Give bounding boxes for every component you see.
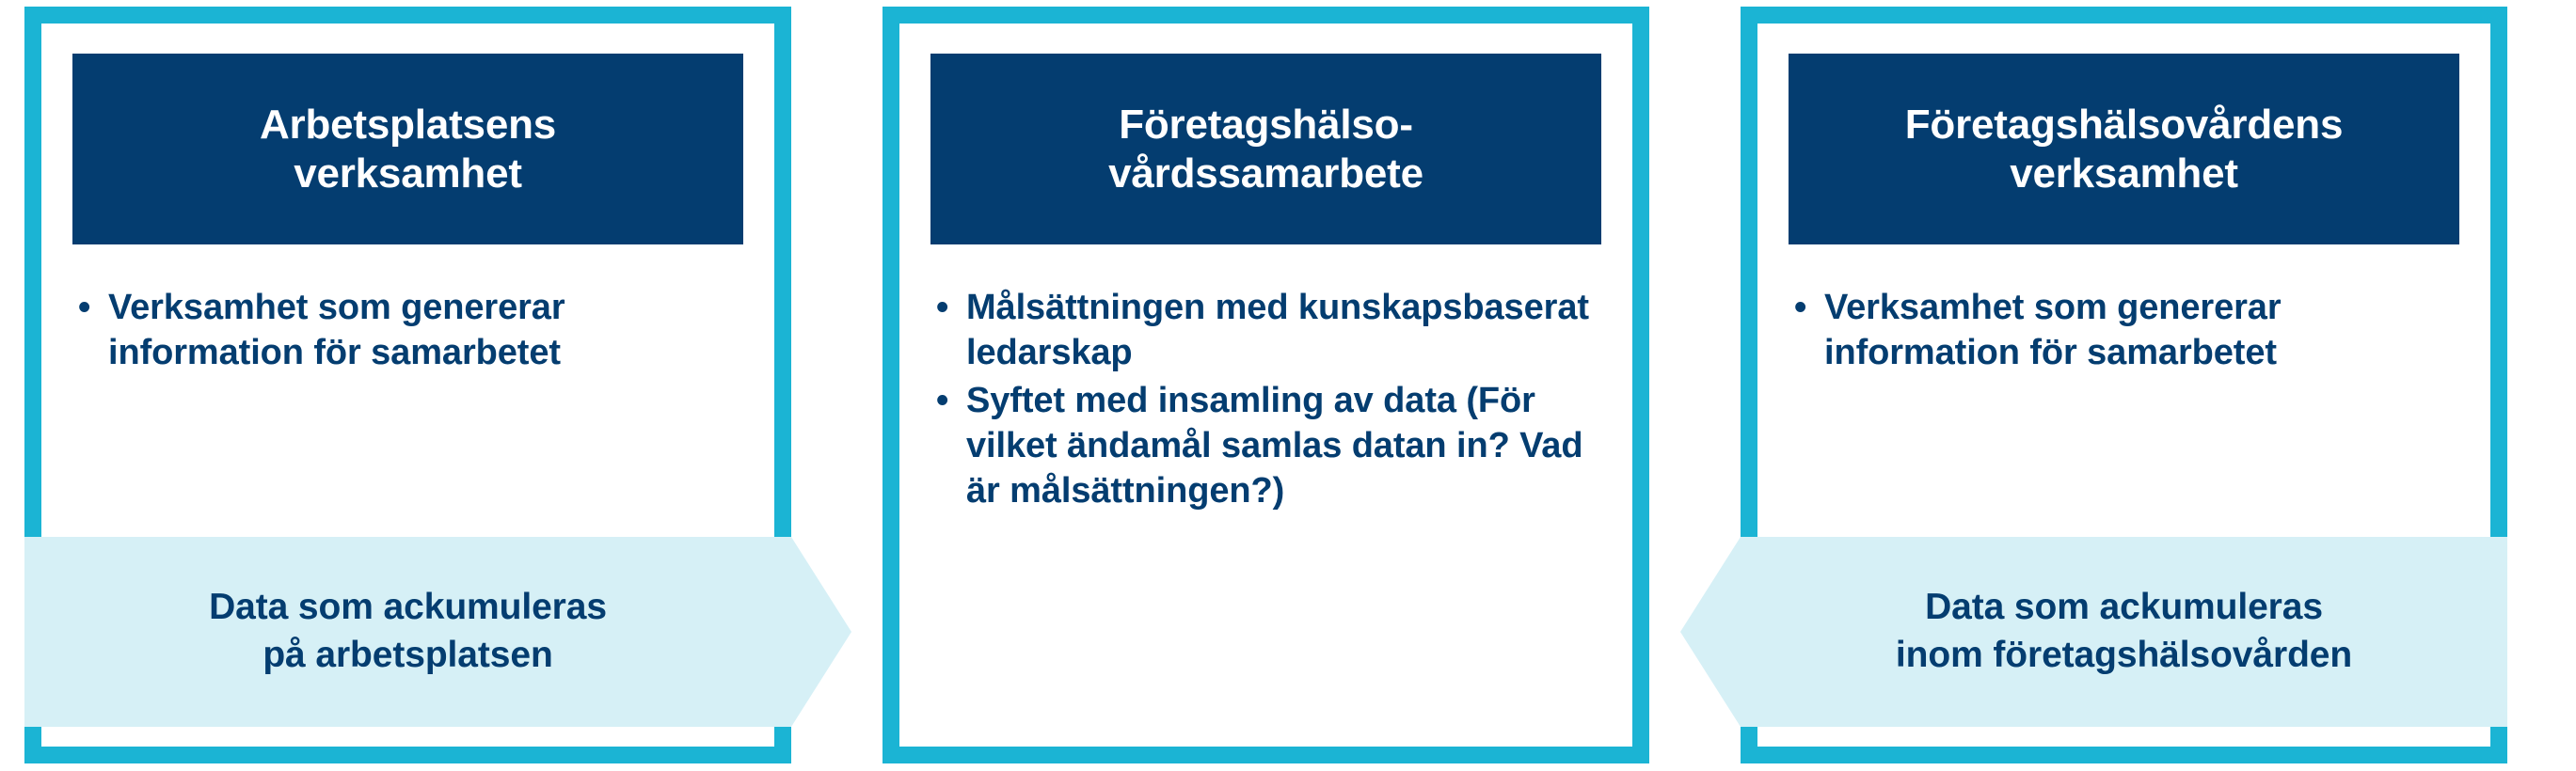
diagram-canvas: Arbetsplatsens verksamhet • Verksamhet s… (0, 0, 2576, 771)
data-flow-banner-occupational-health: Data som ackumuleras inom företagshälsov… (1680, 537, 2507, 727)
bullet-text: Syftet med insamling av data (För vilket… (966, 381, 1582, 511)
panel-header-title: Företagshälso- vårdssamarbete (1108, 101, 1423, 197)
bullet-list: • Verksamhet som genererar information f… (72, 285, 743, 376)
bullet-list: • Målsättningen med kunskapsbaserat leda… (930, 285, 1601, 513)
panel-header-box: Arbetsplatsens verksamhet (72, 54, 743, 244)
list-item: • Syftet med insamling av data (För vilk… (930, 378, 1601, 514)
list-item: • Verksamhet som genererar information f… (1789, 285, 2459, 376)
bullet-text: Verksamhet som genererar information för… (108, 288, 565, 372)
list-item: • Verksamhet som genererar information f… (72, 285, 743, 376)
bullet-text: Målsättningen med kunskapsbaserat ledars… (966, 288, 1589, 372)
bullet-point-icon: • (78, 285, 90, 330)
bullet-text: Verksamhet som genererar information för… (1824, 288, 2282, 372)
banner-label: Data som ackumuleras inom företagshälsov… (1896, 584, 2352, 679)
panel-header-box: Företagshälso- vårdssamarbete (930, 54, 1601, 244)
data-flow-banner-workplace: Data som ackumuleras på arbetsplatsen (24, 537, 851, 727)
panel-header-title: Företagshälsovårdens verksamhet (1905, 101, 2344, 197)
bullet-point-icon: • (936, 378, 948, 423)
bullet-point-icon: • (936, 285, 948, 330)
panel-header-box: Företagshälsovårdens verksamhet (1789, 54, 2459, 244)
panel-header-title: Arbetsplatsens verksamhet (260, 101, 556, 197)
list-item: • Målsättningen med kunskapsbaserat leda… (930, 285, 1601, 376)
panel-inner: Företagshälso- vårdssamarbete • Målsättn… (899, 24, 1632, 747)
banner-label: Data som ackumuleras på arbetsplatsen (209, 584, 607, 679)
bullet-list: • Verksamhet som genererar information f… (1789, 285, 2459, 376)
panel-foretagshalsovardssamarbete: Företagshälso- vårdssamarbete • Målsättn… (883, 7, 1649, 763)
bullet-point-icon: • (1794, 285, 1806, 330)
